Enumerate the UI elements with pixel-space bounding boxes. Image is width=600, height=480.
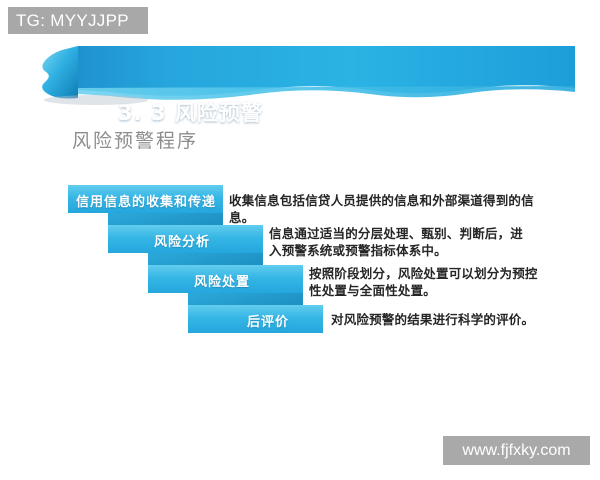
step-1-description: 收集信息包括信贷人员提供的信息和外部渠道得到的信息。 xyxy=(229,192,559,226)
slide-canvas: TG: MYYJJPP xyxy=(0,0,600,480)
tg-tag: TG: MYYJJPP xyxy=(8,7,148,34)
step-4-description: 对风险预警的结果进行科学的评价。 xyxy=(331,311,561,328)
step-2-description: 信息通过适当的分层处理、甄别、判断后，进入预警系统或预警指标体系中。 xyxy=(269,225,529,259)
title-banner: 3. 3 风险预警 xyxy=(0,44,600,104)
step-4-label: 后评价 xyxy=(247,311,289,330)
step-1-label: 信用信息的收集和传递 xyxy=(76,191,216,210)
step-2-label: 风险分析 xyxy=(154,231,210,250)
banner-shape xyxy=(0,44,600,106)
watermark: www.fjfxky.com xyxy=(443,436,590,465)
section-subtitle: 风险预警程序 xyxy=(72,126,198,153)
process-diagram: 信用信息的收集和传递 风险分析 风险处置 后评价 收集信息包括信贷人员提供的信息… xyxy=(0,180,600,370)
step-3-label: 风险处置 xyxy=(194,271,250,290)
step-3-description: 按照阶段划分，风险处置可以划分为预控性处置与全面性处置。 xyxy=(309,265,539,299)
banner-title-text: 3. 3 风险预警 xyxy=(118,97,263,127)
